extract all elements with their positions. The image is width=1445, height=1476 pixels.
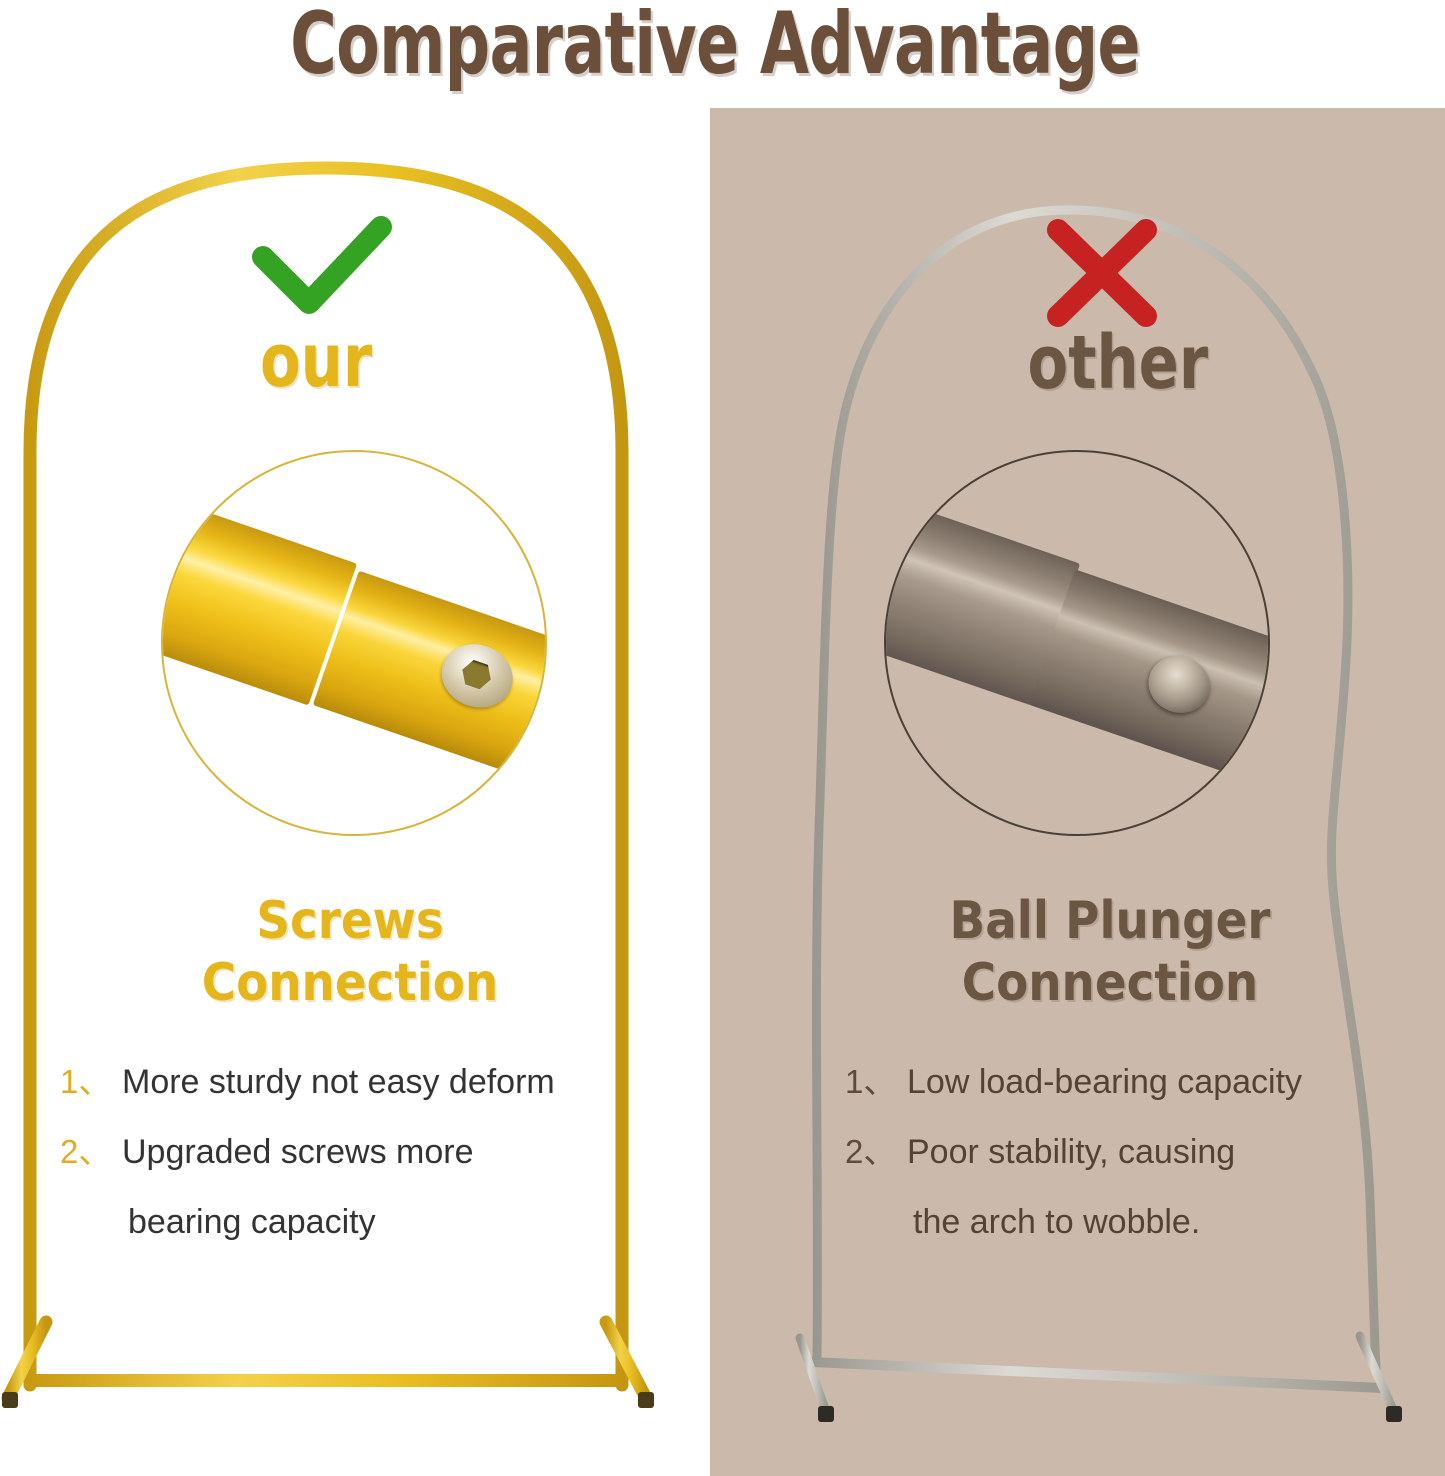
list-item: 1、 More sturdy not easy deform	[60, 1062, 660, 1102]
bullet-text: Low load-bearing capacity	[907, 1062, 1425, 1102]
right-bullet-list: 1、 Low load-bearing capacity 2、 Poor sta…	[845, 1062, 1425, 1242]
bullet-continuation: bearing capacity	[128, 1202, 660, 1242]
left-heading-line1: Screws	[107, 890, 593, 952]
page-title: Comparative Advantage	[186, 0, 1244, 92]
bullet-continuation: the arch to wobble.	[913, 1202, 1425, 1242]
bullet-text: More sturdy not easy deform	[122, 1062, 660, 1102]
left-heading-line2: Connection	[107, 952, 593, 1014]
bullet-text: Poor stability, causing	[907, 1132, 1425, 1172]
bullet-number: 1、	[845, 1062, 907, 1102]
right-heading: Ball Plunger Connection	[867, 890, 1353, 1014]
bullet-number: 1、	[60, 1062, 122, 1102]
yellow-pipe-illustration	[161, 480, 547, 811]
our-label: our	[260, 324, 372, 398]
other-label: other	[1028, 326, 1208, 400]
left-bullet-list: 1、 More sturdy not easy deform 2、 Upgrad…	[60, 1062, 660, 1242]
right-heading-line1: Ball Plunger	[867, 890, 1353, 952]
bullet-number: 2、	[845, 1132, 907, 1172]
screws-detail-photo	[161, 450, 547, 836]
cross-mark-icon	[1028, 218, 1178, 328]
ball-plunger-detail-photo	[884, 450, 1270, 836]
comparison-infographic: Comparative Advantage	[0, 0, 1445, 1476]
list-item: 2、 Upgraded screws more	[60, 1132, 660, 1172]
yellow-pipe-segment-b	[313, 571, 547, 809]
list-item: 1、 Low load-bearing capacity	[845, 1062, 1425, 1102]
bullet-text: Upgraded screws more	[122, 1132, 660, 1172]
left-heading: Screws Connection	[107, 890, 593, 1014]
hex-socket-icon	[458, 657, 495, 691]
right-heading-line2: Connection	[867, 952, 1353, 1014]
list-item: 2、 Poor stability, causing	[845, 1132, 1425, 1172]
gray-pipe-illustration	[884, 480, 1270, 811]
bullet-number: 2、	[60, 1132, 122, 1172]
check-mark-icon	[247, 215, 397, 325]
